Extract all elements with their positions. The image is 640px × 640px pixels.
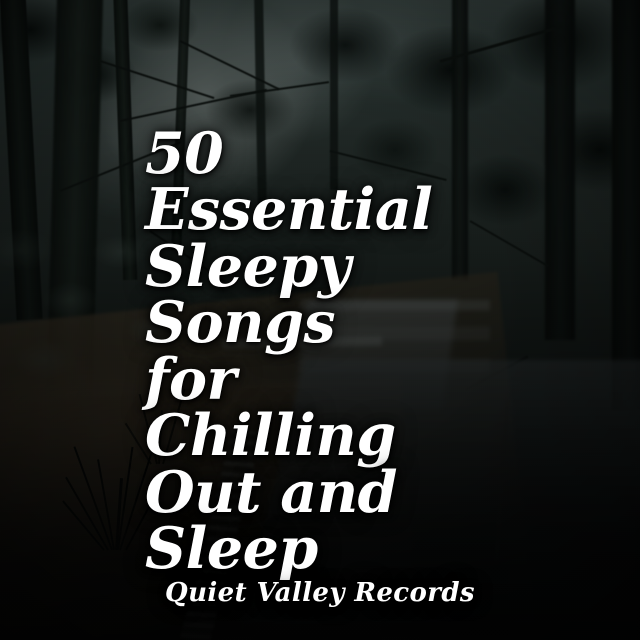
cover-text-block: 50 Essential Sleepy Songs for Chilling O… [0, 0, 640, 640]
record-label-name: Quiet Valley Records [0, 578, 640, 608]
album-title: 50 Essential Sleepy Songs for Chilling O… [145, 126, 505, 577]
album-cover: 50 Essential Sleepy Songs for Chilling O… [0, 0, 640, 640]
